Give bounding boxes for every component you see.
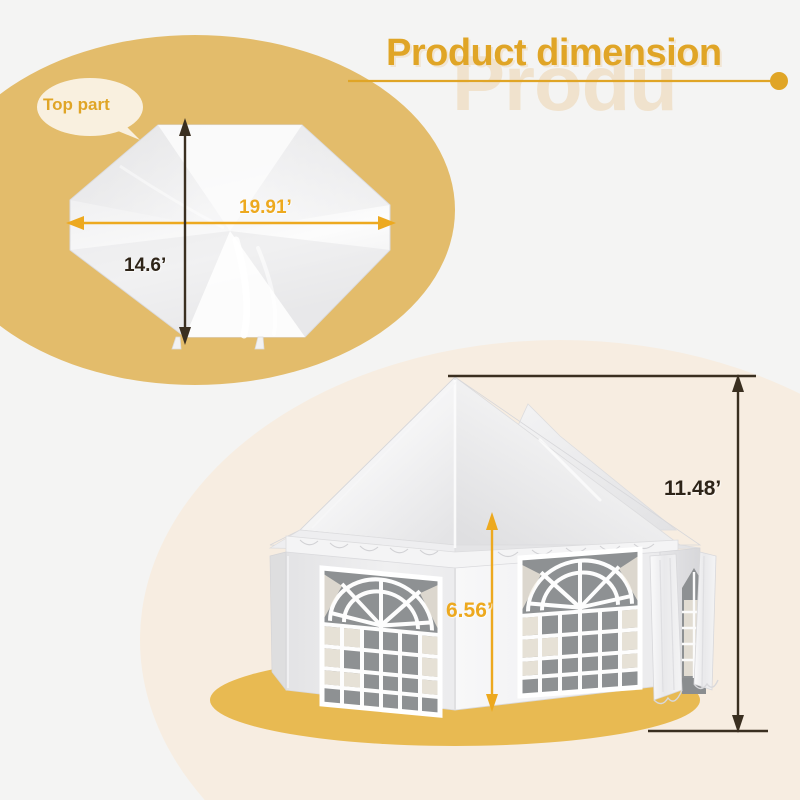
dimension-label-total-height: 11.48’ bbox=[664, 478, 721, 499]
arched-grid-window-left bbox=[322, 568, 440, 715]
arched-grid-window-center bbox=[520, 549, 640, 696]
pagoda-roof bbox=[270, 377, 700, 552]
wall-left-return bbox=[270, 552, 286, 690]
roof-right-slope bbox=[455, 377, 680, 545]
product-dimension-infographic: Produ Product dimension bbox=[0, 0, 800, 800]
dimension-label-wall-height: 6.56’ bbox=[446, 600, 493, 621]
gazebo-diagram bbox=[0, 0, 800, 800]
